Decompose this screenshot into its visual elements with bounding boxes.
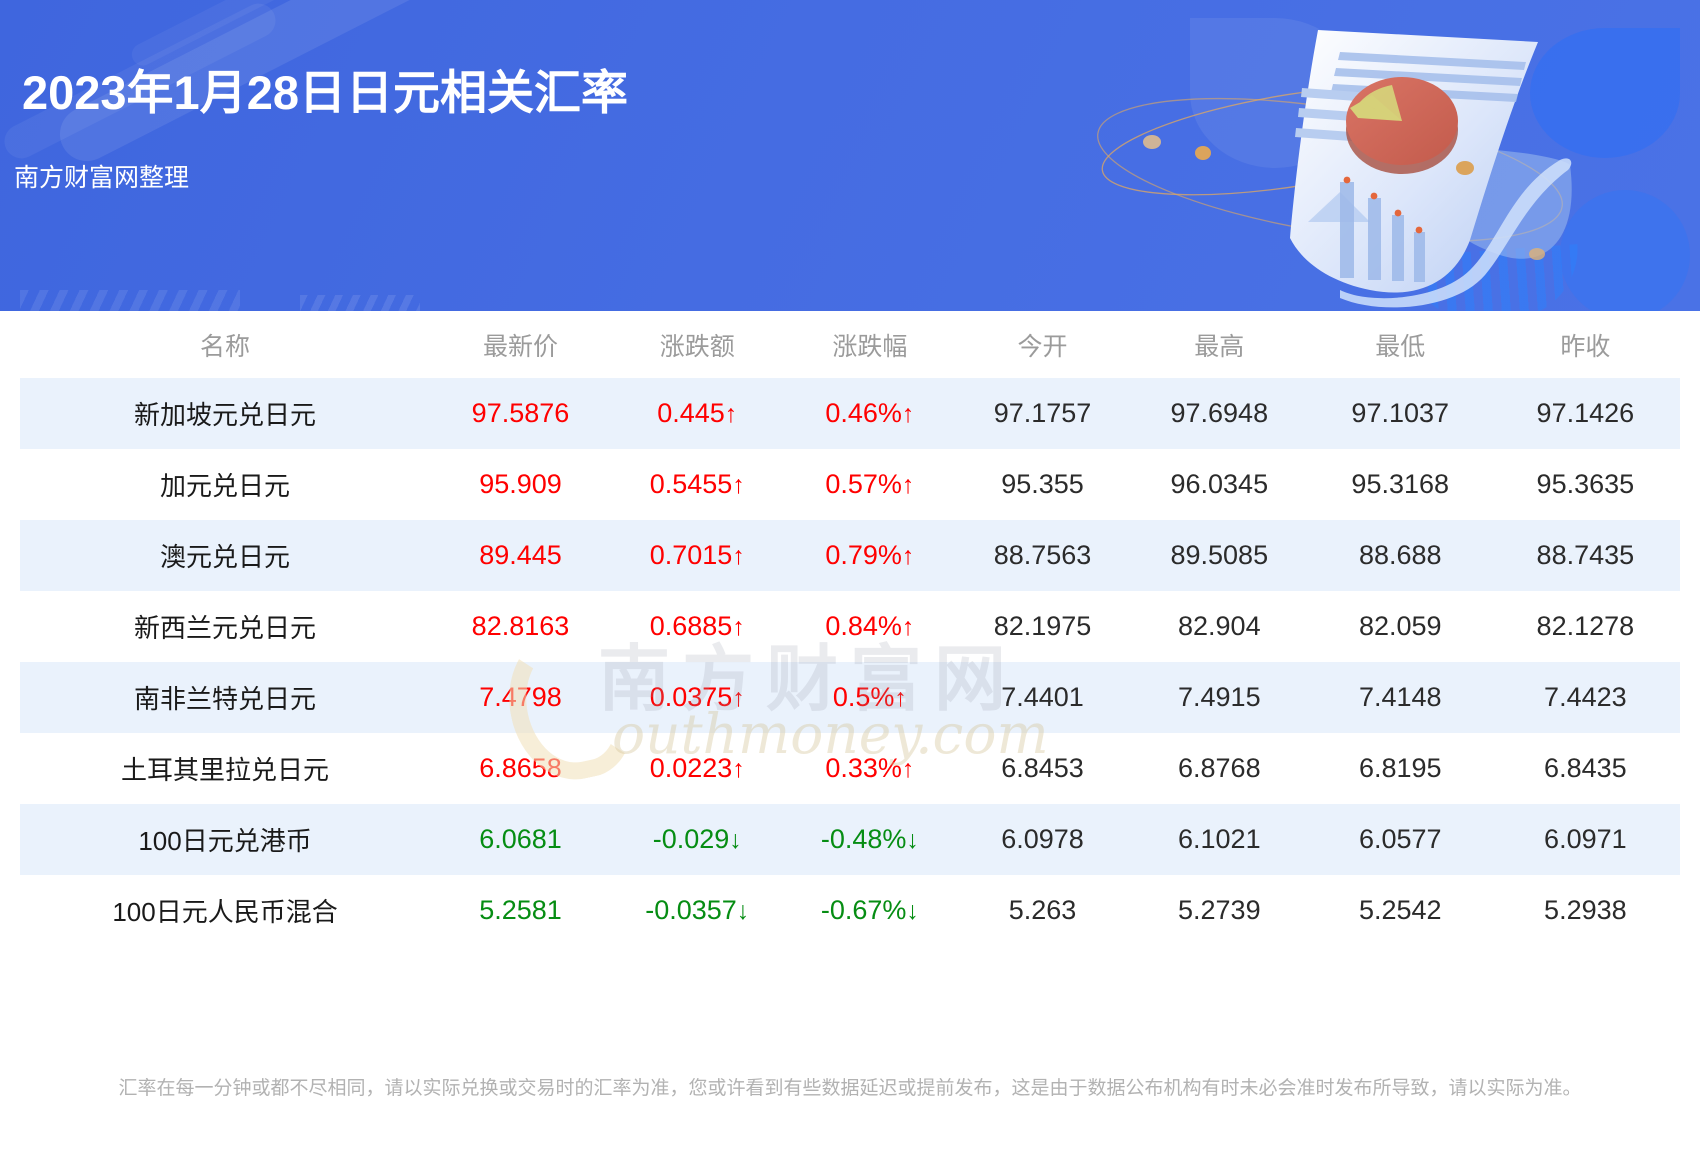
cell-open: 95.355: [956, 449, 1129, 520]
cell-prev-close: 97.1426: [1491, 378, 1680, 449]
cell-high: 7.4915: [1129, 662, 1310, 733]
change-value: 0.6885: [650, 611, 733, 641]
table-body: 新加坡元兑日元97.58760.445↑0.46%↑97.175797.6948…: [20, 378, 1680, 946]
page-banner: 2023年1月28日日元相关汇率 南方财富网整理: [0, 0, 1700, 311]
cell-currency-name[interactable]: 加元兑日元: [20, 449, 430, 520]
trend-arrow-icon: ↓: [737, 897, 750, 925]
trend-arrow-icon: ↑: [902, 542, 915, 570]
cell-prev-close: 5.2938: [1491, 875, 1680, 946]
change-percent-value: 0.84%: [825, 611, 902, 641]
page-subtitle: 南方财富网整理: [14, 158, 189, 194]
cell-open: 97.1757: [956, 378, 1129, 449]
decorative-stripes-mid: [300, 295, 420, 311]
cell-last-price: 5.2581: [430, 875, 611, 946]
cell-change-percent: 0.33%↑: [784, 733, 957, 804]
change-percent-value: 0.46%: [825, 398, 902, 428]
trend-arrow-icon: ↑: [902, 400, 915, 428]
cell-currency-name[interactable]: 100日元兑港币: [20, 804, 430, 875]
cell-prev-close: 82.1278: [1491, 591, 1680, 662]
table-row[interactable]: 100日元人民币混合5.2581-0.0357↓-0.67%↓5.2635.27…: [20, 875, 1680, 946]
cell-open: 88.7563: [956, 520, 1129, 591]
cell-open: 5.263: [956, 875, 1129, 946]
decorative-stripes-left: [20, 290, 240, 311]
exchange-rate-table-container: 名称 最新价 涨跌额 涨跌幅 今开 最高 最低 昨收 新加坡元兑日元97.587…: [0, 311, 1700, 946]
exchange-rate-table: 名称 最新价 涨跌额 涨跌幅 今开 最高 最低 昨收 新加坡元兑日元97.587…: [20, 311, 1680, 946]
cell-high: 89.5085: [1129, 520, 1310, 591]
cell-prev-close: 6.0971: [1491, 804, 1680, 875]
cell-prev-close: 95.3635: [1491, 449, 1680, 520]
cell-change-percent: -0.67%↓: [784, 875, 957, 946]
table-row[interactable]: 土耳其里拉兑日元6.86580.0223↑0.33%↑6.84536.87686…: [20, 733, 1680, 804]
table-row[interactable]: 新加坡元兑日元97.58760.445↑0.46%↑97.175797.6948…: [20, 378, 1680, 449]
cell-high: 97.6948: [1129, 378, 1310, 449]
cell-last-price: 7.4798: [430, 662, 611, 733]
cell-change-percent: 0.5%↑: [784, 662, 957, 733]
change-value: -0.029: [653, 824, 730, 854]
column-header-low[interactable]: 最低: [1310, 311, 1491, 378]
cell-last-price: 82.8163: [430, 591, 611, 662]
trend-arrow-icon: ↑: [902, 471, 915, 499]
trend-arrow-icon: ↑: [732, 471, 745, 499]
cell-last-price: 6.8658: [430, 733, 611, 804]
change-value: 0.7015: [650, 540, 733, 570]
trend-arrow-icon: ↓: [906, 897, 919, 925]
change-percent-value: 0.33%: [825, 753, 902, 783]
column-header-change-pct[interactable]: 涨跌幅: [784, 311, 957, 378]
cell-low: 95.3168: [1310, 449, 1491, 520]
cell-last-price: 97.5876: [430, 378, 611, 449]
cell-low: 82.059: [1310, 591, 1491, 662]
table-row[interactable]: 澳元兑日元89.4450.7015↑0.79%↑88.756389.508588…: [20, 520, 1680, 591]
change-value: 0.5455: [650, 469, 733, 499]
table-header-row: 名称 最新价 涨跌额 涨跌幅 今开 最高 最低 昨收: [20, 311, 1680, 378]
change-value: 0.0375: [650, 682, 733, 712]
cell-high: 5.2739: [1129, 875, 1310, 946]
trend-arrow-icon: ↑: [725, 400, 738, 428]
cell-change: 0.7015↑: [611, 520, 784, 591]
cell-low: 5.2542: [1310, 875, 1491, 946]
cell-high: 96.0345: [1129, 449, 1310, 520]
trend-arrow-icon: ↓: [906, 826, 919, 854]
report-document-chart-illustration: [1040, 0, 1600, 311]
cell-high: 6.8768: [1129, 733, 1310, 804]
table-row[interactable]: 加元兑日元95.9090.5455↑0.57%↑95.35596.034595.…: [20, 449, 1680, 520]
trend-arrow-icon: ↑: [902, 755, 915, 783]
cell-currency-name[interactable]: 土耳其里拉兑日元: [20, 733, 430, 804]
cell-change: 0.445↑: [611, 378, 784, 449]
change-percent-value: 0.5%: [833, 682, 895, 712]
trend-arrow-icon: ↑: [732, 613, 745, 641]
cell-prev-close: 7.4423: [1491, 662, 1680, 733]
cell-last-price: 6.0681: [430, 804, 611, 875]
column-header-prev-close[interactable]: 昨收: [1491, 311, 1680, 378]
trend-arrow-icon: ↑: [894, 684, 907, 712]
column-header-change[interactable]: 涨跌额: [611, 311, 784, 378]
cell-change-percent: 0.79%↑: [784, 520, 957, 591]
cell-prev-close: 88.7435: [1491, 520, 1680, 591]
cell-low: 6.0577: [1310, 804, 1491, 875]
cell-last-price: 95.909: [430, 449, 611, 520]
change-percent-value: -0.48%: [821, 824, 907, 854]
cell-low: 88.688: [1310, 520, 1491, 591]
change-percent-value: 0.79%: [825, 540, 902, 570]
cell-change: -0.0357↓: [611, 875, 784, 946]
column-header-high[interactable]: 最高: [1129, 311, 1310, 378]
cell-open: 6.8453: [956, 733, 1129, 804]
trend-arrow-icon: ↑: [732, 684, 745, 712]
column-header-name[interactable]: 名称: [20, 311, 430, 378]
trend-arrow-icon: ↓: [729, 826, 742, 854]
table-row[interactable]: 南非兰特兑日元7.47980.0375↑0.5%↑7.44017.49157.4…: [20, 662, 1680, 733]
cell-open: 7.4401: [956, 662, 1129, 733]
table-row[interactable]: 100日元兑港币6.0681-0.029↓-0.48%↓6.09786.1021…: [20, 804, 1680, 875]
cell-currency-name[interactable]: 100日元人民币混合: [20, 875, 430, 946]
disclaimer-text: 汇率在每一分钟或都不尽相同，请以实际兑换或交易时的汇率为准，您或许看到有些数据延…: [0, 1073, 1700, 1100]
cell-last-price: 89.445: [430, 520, 611, 591]
cell-change: 0.0223↑: [611, 733, 784, 804]
cell-currency-name[interactable]: 南非兰特兑日元: [20, 662, 430, 733]
cell-change: 0.0375↑: [611, 662, 784, 733]
cell-high: 6.1021: [1129, 804, 1310, 875]
table-row[interactable]: 新西兰元兑日元82.81630.6885↑0.84%↑82.197582.904…: [20, 591, 1680, 662]
trend-arrow-icon: ↑: [732, 755, 745, 783]
cell-change: 0.5455↑: [611, 449, 784, 520]
cell-open: 6.0978: [956, 804, 1129, 875]
cell-currency-name[interactable]: 新加坡元兑日元: [20, 378, 430, 449]
cell-currency-name[interactable]: 澳元兑日元: [20, 520, 430, 591]
change-value: 0.0223: [650, 753, 733, 783]
change-percent-value: 0.57%: [825, 469, 902, 499]
change-value: 0.445: [657, 398, 725, 428]
change-value: -0.0357: [645, 895, 737, 925]
cell-low: 6.8195: [1310, 733, 1491, 804]
change-percent-value: -0.67%: [821, 895, 907, 925]
column-header-last-price[interactable]: 最新价: [430, 311, 611, 378]
page-title: 2023年1月28日日元相关汇率: [22, 54, 628, 123]
cell-change-percent: -0.48%↓: [784, 804, 957, 875]
cell-open: 82.1975: [956, 591, 1129, 662]
cell-low: 7.4148: [1310, 662, 1491, 733]
cell-change-percent: 0.57%↑: [784, 449, 957, 520]
trend-arrow-icon: ↑: [902, 613, 915, 641]
cell-low: 97.1037: [1310, 378, 1491, 449]
column-header-open[interactable]: 今开: [956, 311, 1129, 378]
cell-high: 82.904: [1129, 591, 1310, 662]
cell-change-percent: 0.84%↑: [784, 591, 957, 662]
trend-arrow-icon: ↑: [732, 542, 745, 570]
cell-change-percent: 0.46%↑: [784, 378, 957, 449]
cell-change: -0.029↓: [611, 804, 784, 875]
cell-change: 0.6885↑: [611, 591, 784, 662]
cell-prev-close: 6.8435: [1491, 733, 1680, 804]
cell-currency-name[interactable]: 新西兰元兑日元: [20, 591, 430, 662]
